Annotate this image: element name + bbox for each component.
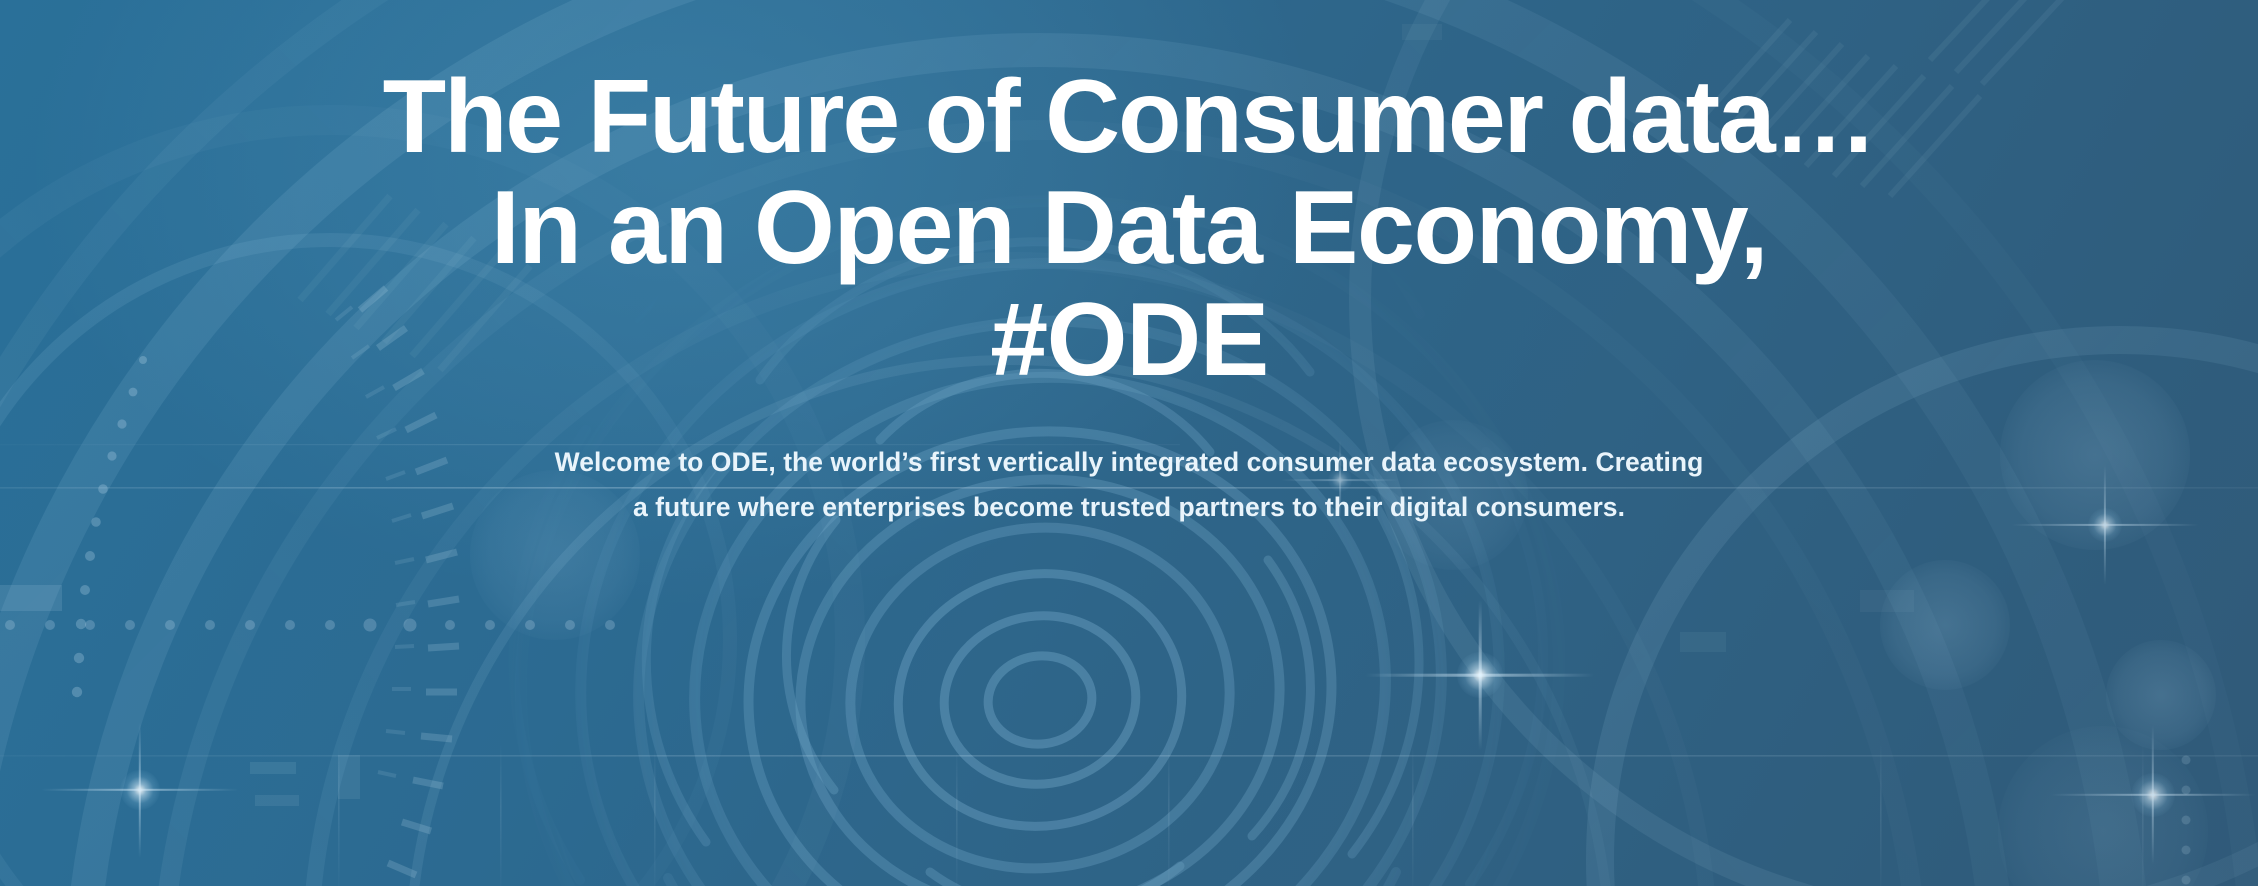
- headline-line-2: In an Open Data Economy,: [10, 173, 2248, 284]
- page-title: The Future of Consumer data… In an Open …: [0, 62, 2258, 396]
- subtitle-line-1: Welcome to ODE, the world’s first vertic…: [555, 447, 1588, 477]
- headline-line-1: The Future of Consumer data…: [10, 62, 2248, 173]
- hero-banner: The Future of Consumer data… In an Open …: [0, 0, 2258, 886]
- headline-line-3: #ODE: [10, 285, 2248, 396]
- hero-subtitle: Welcome to ODE, the world’s first vertic…: [544, 440, 1714, 531]
- hero-content: The Future of Consumer data… In an Open …: [0, 0, 2258, 886]
- subtitle-line-3: consumers.: [1476, 492, 1625, 522]
